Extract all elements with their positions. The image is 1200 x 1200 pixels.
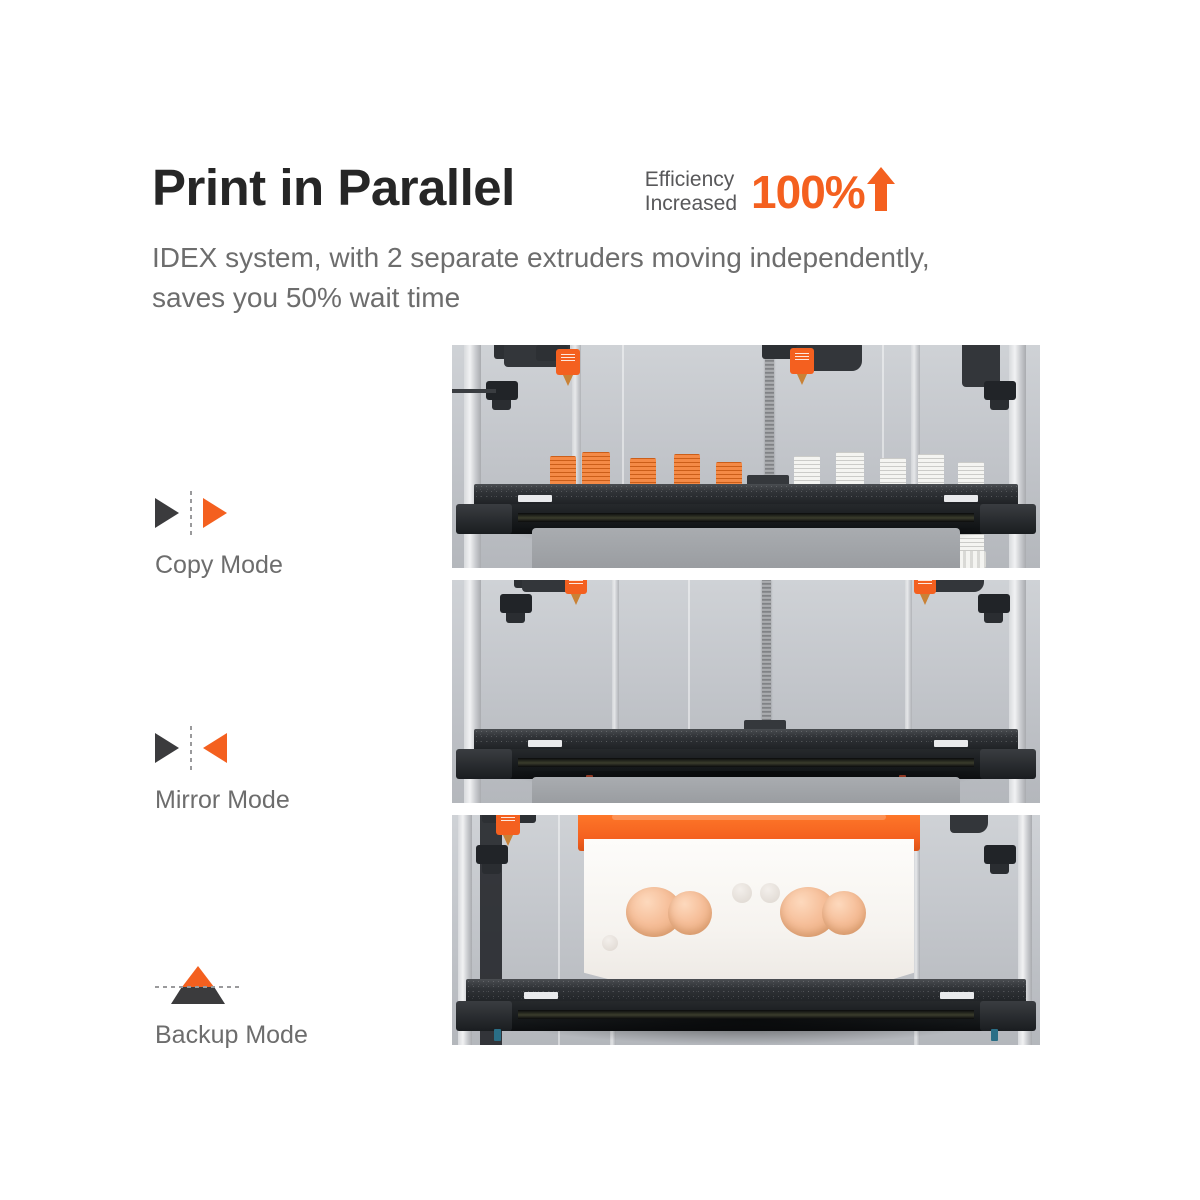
hotend-heat-icon xyxy=(501,815,515,823)
photo-copy-mode xyxy=(452,345,1040,568)
hotend-right xyxy=(790,348,814,374)
efficiency-badge: Efficiency Increased 100% xyxy=(645,166,896,217)
bolt-hole xyxy=(602,935,618,951)
subtitle: IDEX system, with 2 separate extruders m… xyxy=(152,238,952,318)
printed-object xyxy=(598,613,632,745)
bed-underside-shadow xyxy=(502,1019,990,1045)
bed-marker xyxy=(524,992,558,999)
hotend-right xyxy=(914,580,936,594)
trapezoid-bottom-dark-icon xyxy=(171,987,225,1004)
printed-object xyxy=(584,839,914,991)
efficiency-percent-value: 100% xyxy=(751,169,865,215)
bolt-hole xyxy=(732,883,752,903)
mode-label-copy: Copy Mode xyxy=(155,550,445,580)
gantry-rail xyxy=(452,389,496,393)
bed-marker xyxy=(944,495,978,502)
frame-knob-left xyxy=(476,845,508,864)
fan-shroud-right xyxy=(930,580,984,592)
printed-object xyxy=(926,605,960,747)
mode-label-backup: Backup Mode xyxy=(155,1020,445,1050)
bed-marker xyxy=(528,740,562,747)
frame-knob-left xyxy=(500,594,532,613)
bed-texture xyxy=(474,484,1018,500)
mode-item-mirror[interactable]: Mirror Mode xyxy=(155,725,445,815)
triangle-right-dark-icon xyxy=(155,733,179,763)
frame-knob-right xyxy=(984,845,1016,864)
printed-object xyxy=(562,607,596,747)
hotend-left xyxy=(565,580,587,594)
triangle-left-orange-icon xyxy=(203,733,227,763)
split-triangle-icon xyxy=(155,960,241,1006)
cable-chain xyxy=(950,815,988,833)
efficiency-label-line2: Increased xyxy=(645,192,737,216)
bed-marker xyxy=(934,740,968,747)
print-bed xyxy=(474,484,1018,506)
efficiency-label: Efficiency Increased xyxy=(645,168,737,216)
hotend-heat-icon xyxy=(561,354,575,363)
mode-label-mirror: Mirror Mode xyxy=(155,785,445,815)
cylinder-bore xyxy=(822,891,866,935)
bed-marker xyxy=(940,992,974,999)
printer-base xyxy=(532,777,960,803)
hotend-heat-icon xyxy=(569,580,583,586)
header: Print in Parallel Efficiency Increased 1… xyxy=(152,158,1052,318)
photo-panel-group xyxy=(452,345,1040,1045)
printer-scene-mirror xyxy=(452,580,1040,803)
bed-standoff xyxy=(494,1029,501,1041)
triangle-right-orange-icon xyxy=(203,498,227,528)
efficiency-label-line1: Efficiency xyxy=(645,168,737,192)
lead-screw xyxy=(765,345,774,491)
mode-list: Copy Mode Mirror Mode Backup Mode xyxy=(155,345,445,1045)
triangle-right-dark-icon xyxy=(155,498,179,528)
hotend-left xyxy=(496,815,520,835)
triangle-top-orange-icon xyxy=(182,966,214,987)
bed-slot xyxy=(518,758,974,767)
photo-backup-mode xyxy=(452,815,1040,1045)
hotend-heat-icon xyxy=(918,580,932,586)
copy-mode-icon xyxy=(155,490,445,536)
page-title: Print in Parallel xyxy=(152,158,515,218)
mode-item-copy[interactable]: Copy Mode xyxy=(155,490,445,580)
dashed-divider-vertical-icon xyxy=(190,491,192,535)
dashed-divider-vertical-icon xyxy=(190,726,192,770)
bed-slot xyxy=(518,513,974,522)
dashed-divider-horizontal-icon xyxy=(155,986,241,988)
frame-column-right xyxy=(1009,345,1026,568)
printed-object xyxy=(888,613,922,747)
lead-screw xyxy=(762,580,771,732)
bed-marker xyxy=(518,495,552,502)
frame-knob-right xyxy=(984,381,1016,400)
bed-slot xyxy=(518,1010,974,1019)
arrow-up-icon xyxy=(866,166,896,217)
printer-base xyxy=(532,528,960,568)
cylinder-bore xyxy=(668,891,712,935)
hotend-left xyxy=(556,349,580,375)
photo-mirror-mode xyxy=(452,580,1040,803)
frame-knob-right xyxy=(978,594,1010,613)
mirror-mode-icon xyxy=(155,725,445,771)
hotend-heat-icon xyxy=(795,353,809,362)
mode-item-backup[interactable]: Backup Mode xyxy=(155,960,445,1050)
headline-row: Print in Parallel Efficiency Increased 1… xyxy=(152,158,1052,218)
efficiency-value-group: 100% xyxy=(751,166,896,217)
frame-column-left xyxy=(464,345,481,568)
printer-scene-copy xyxy=(452,345,1040,568)
printer-scene-backup xyxy=(452,815,1040,1045)
bolt-hole xyxy=(760,883,780,903)
backup-mode-icon xyxy=(155,960,445,1006)
bed-standoff xyxy=(991,1029,998,1041)
